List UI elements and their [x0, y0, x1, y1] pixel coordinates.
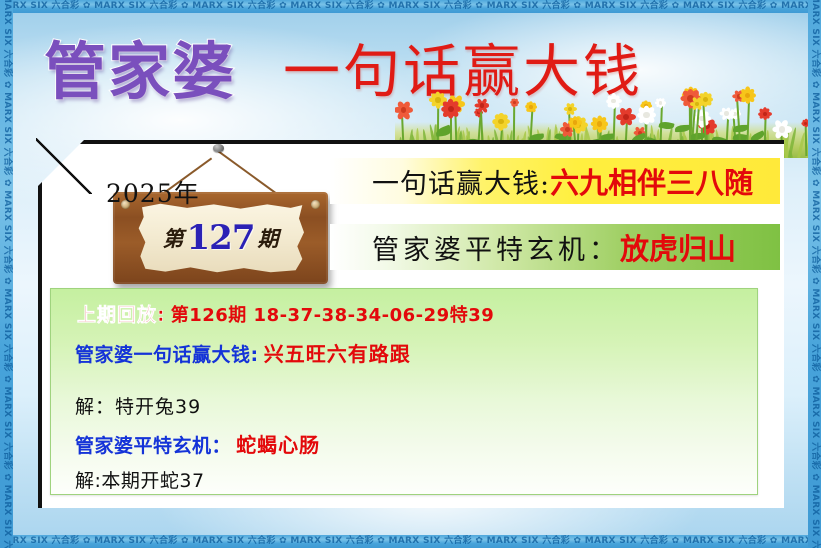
border-strip-text-top: MARX SIX 六合彩 ✿ MARX SIX 六合彩 ✿ MARX SIX 六…: [0, 0, 821, 13]
flower-center-icon: [435, 97, 440, 102]
flower-center-icon: [513, 101, 516, 104]
flower-center-icon: [573, 120, 577, 124]
border-band-bottom: MARX SIX 六合彩 ✿ MARX SIX 六合彩 ✿ MARX SIX 六…: [0, 535, 821, 548]
flower-center-icon: [480, 103, 484, 107]
border-band-top: MARX SIX 六合彩 ✿ MARX SIX 六合彩 ✿ MARX SIX 六…: [0, 0, 821, 13]
main-card: [38, 140, 792, 516]
border-strip-text-right: MARX SIX 六合彩 ✿ MARX SIX 六合彩 ✿ MARX SIX 六…: [808, 0, 821, 548]
border-strip-text-bottom: MARX SIX 六合彩 ✿ MARX SIX 六合彩 ✿ MARX SIX 六…: [0, 535, 821, 548]
flower-center-icon: [724, 111, 728, 115]
flower-center-icon: [529, 105, 533, 109]
border-band-left: MARX SIX 六合彩 ✿ MARX SIX 六合彩 ✿ MARX SIX 六…: [0, 0, 13, 548]
border-strip-text-left: MARX SIX 六合彩 ✿ MARX SIX 六合彩 ✿ MARX SIX 六…: [0, 0, 13, 548]
flower-center-icon: [703, 97, 708, 102]
brand-title: 管家婆: [44, 41, 236, 103]
flower-center-icon: [623, 114, 629, 120]
flower-center-icon: [779, 126, 785, 132]
flower-center-icon: [597, 121, 602, 126]
flower-center-icon: [763, 112, 767, 116]
poster-root: 管家婆 一句话赢大钱 2025年 第 127 期 一句话赢大钱: 六九相伴三八: [0, 0, 821, 548]
flower-center-icon: [565, 127, 570, 132]
flower-center-icon: [643, 112, 649, 118]
border-band-right: MARX SIX 六合彩 ✿ MARX SIX 六合彩 ✿ MARX SIX 六…: [808, 0, 821, 548]
flower-center-icon: [695, 102, 699, 106]
